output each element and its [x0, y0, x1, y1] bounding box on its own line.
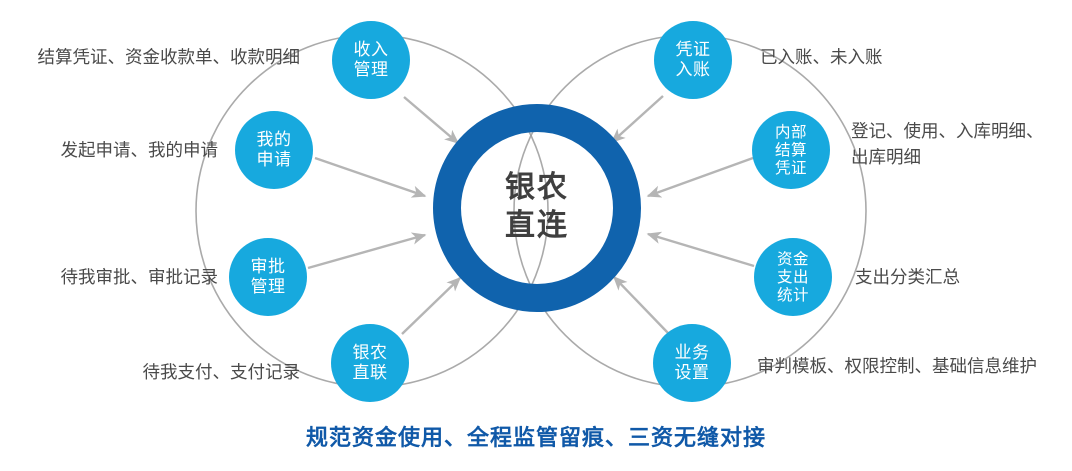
- center-label-line1: 银农: [447, 169, 627, 207]
- arrow-internal: [648, 158, 753, 196]
- arrow-application: [315, 158, 425, 196]
- node-fund-expense-stats[interactable]: [754, 238, 832, 316]
- arrow-direct: [402, 278, 460, 334]
- arrow-approval: [308, 235, 425, 268]
- diagram-caption: 规范资金使用、全程监管留痕、三资无缝对接: [0, 420, 1072, 452]
- side-label-voucher-entry-desc: 已入账、未入账: [760, 45, 1060, 71]
- arrow-voucher: [612, 96, 663, 142]
- node-bank-farm-direct-link[interactable]: [331, 324, 409, 402]
- arrow-business: [614, 277, 668, 333]
- center-label-line2: 直连: [447, 207, 627, 245]
- node-voucher-entry[interactable]: [654, 21, 732, 99]
- side-label-business-settings-desc: 审判模板、权限控制、基础信息维护: [757, 354, 1072, 380]
- side-label-internal-settlement-desc: 登记、使用、入库明细、出库明细: [851, 119, 1072, 171]
- node-internal-settlement[interactable]: [752, 111, 830, 189]
- node-income-management[interactable]: [332, 21, 410, 99]
- diagram-canvas: 收入管理我的申请审批管理银农直联凭证入账内部结算凭证资金支出统计业务设置 结算凭…: [0, 0, 1072, 471]
- side-label-fund-expense-stats-desc: 支出分类汇总: [855, 265, 1072, 291]
- node-approval-management[interactable]: [229, 238, 307, 316]
- side-label-approval-management-desc: 待我审批、审批记录: [0, 265, 218, 291]
- node-my-application[interactable]: [235, 111, 313, 189]
- node-business-settings[interactable]: [653, 324, 731, 402]
- arrow-income: [404, 97, 458, 143]
- side-label-my-application-desc: 发起申请、我的申请: [0, 138, 218, 164]
- side-label-bank-direct-link-desc: 待我支付、支付记录: [0, 360, 300, 386]
- center-label: 银农直连: [447, 169, 627, 245]
- arrow-expense: [648, 234, 754, 266]
- side-label-income-management-desc: 结算凭证、资金收款单、收款明细: [0, 45, 300, 71]
